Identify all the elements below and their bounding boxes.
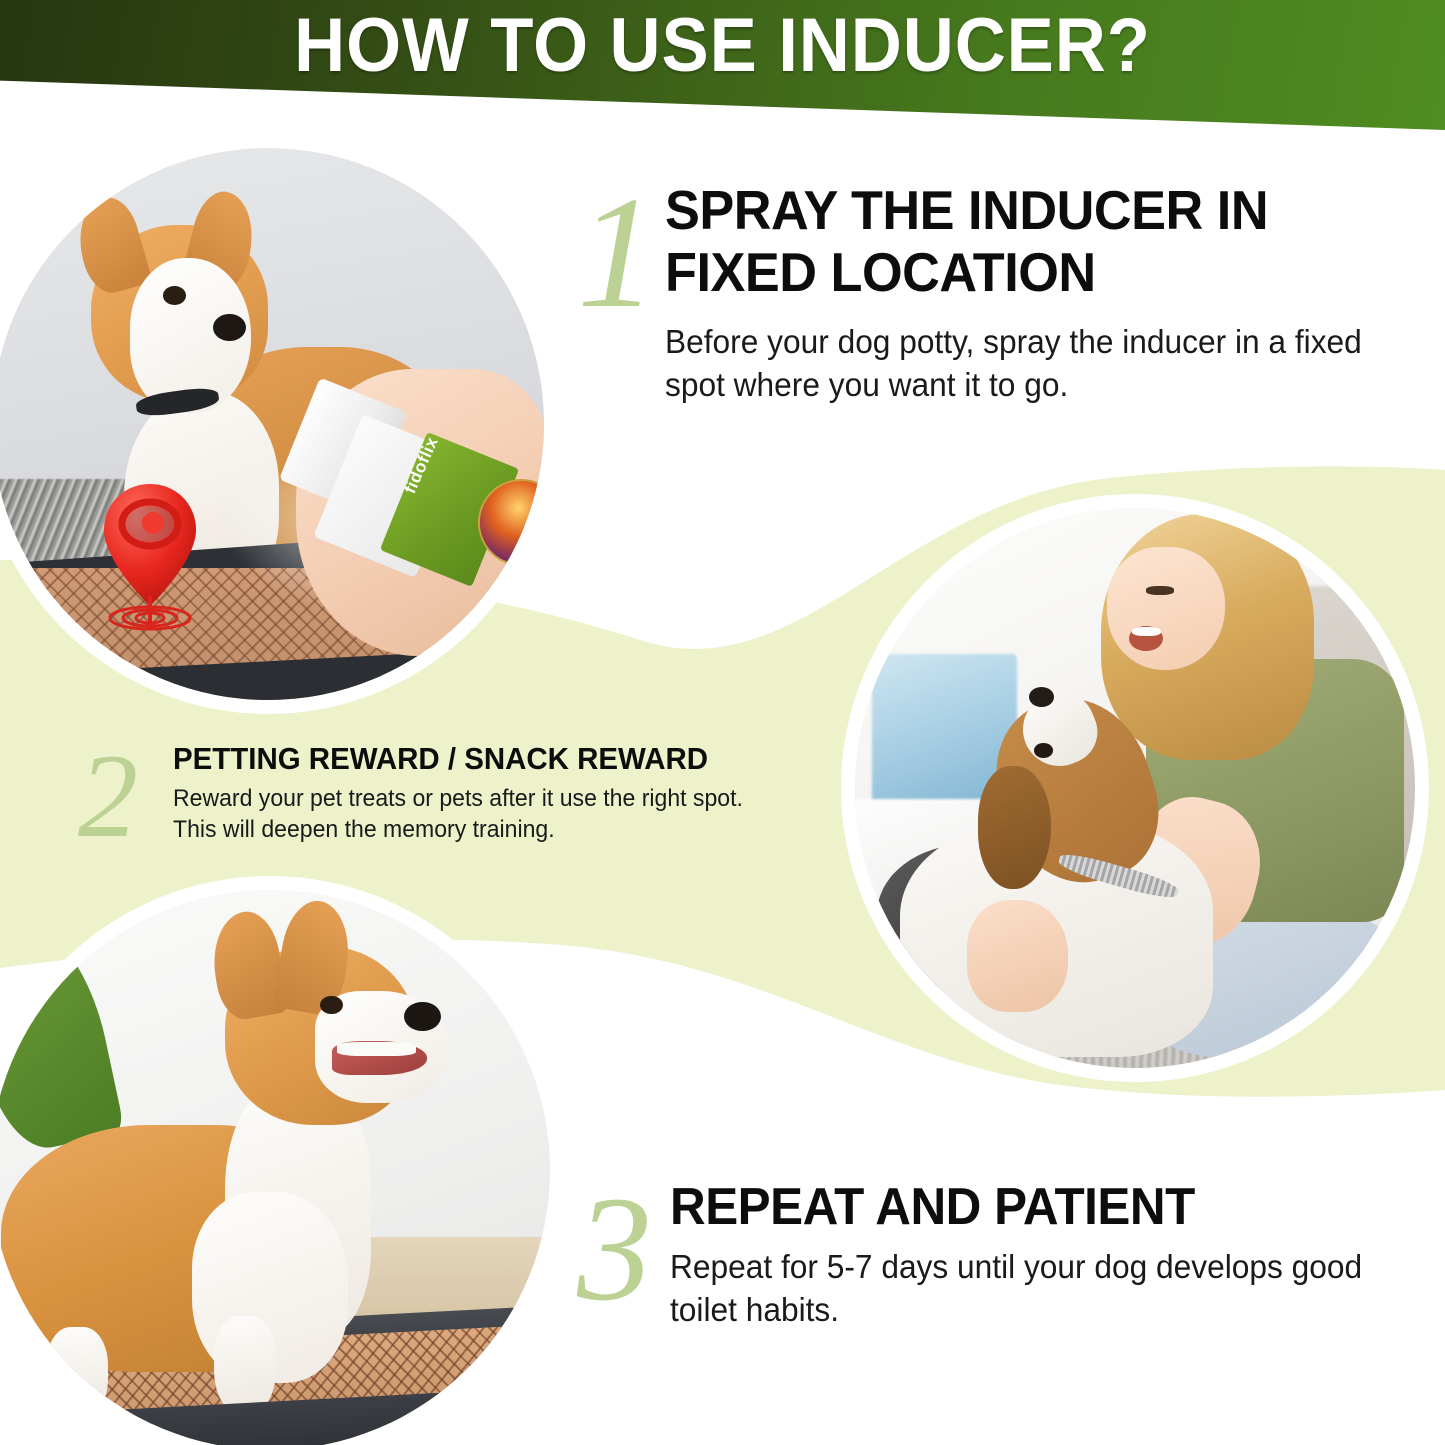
step-1-body: Before your dog potty, spray the inducer…: [665, 321, 1375, 407]
woman-petting-hand: [967, 900, 1068, 1012]
step-3-number: 3: [577, 1174, 652, 1324]
photo-reward-scene: [855, 508, 1415, 1068]
corgi-eye: [163, 286, 186, 305]
step-1-number: 1: [577, 172, 657, 332]
woman-eye: [1146, 586, 1174, 594]
corgi-nose: [404, 1002, 440, 1031]
photo-spray-scene: fidoflix: [0, 148, 544, 700]
step-1-title: SPRAY THE INDUCER IN FIXED LOCATION: [665, 180, 1368, 303]
corgi-teeth: [337, 1042, 415, 1055]
photo-corgi-on-tray: [0, 890, 550, 1445]
step-2-title: PETTING REWARD / SNACK REWARD: [173, 742, 767, 777]
beagle-eye: [1034, 743, 1053, 758]
step-2-number: 2: [78, 736, 138, 856]
step-3-block: 3 REPEAT AND PATIENT Repeat for 5-7 days…: [575, 1178, 1415, 1332]
step-2-block: 2 PETTING REWARD / SNACK REWARD Reward y…: [78, 742, 798, 845]
page-title: HOW TO USE INDUCER?: [51, 8, 1395, 84]
step-1-block: 1 SPRAY THE INDUCER IN FIXED LOCATION Be…: [575, 180, 1405, 407]
step-2-body: Reward your pet treats or pets after it …: [173, 783, 773, 845]
beagle-nose: [1029, 687, 1054, 707]
corgi-rear-leg: [46, 1327, 108, 1422]
woman-teeth: [1132, 627, 1161, 636]
photo-spray-inducer: fidoflix: [0, 148, 544, 700]
step-3-body: Repeat for 5-7 days until your dog devel…: [670, 1246, 1385, 1332]
map-pin-icon: [95, 478, 205, 638]
woman-face: [1107, 547, 1225, 670]
photo-reward-beagle: [855, 508, 1415, 1068]
corgi-nose: [213, 314, 246, 342]
beagle-ear: [978, 766, 1051, 889]
photo-repeat-scene: [0, 890, 550, 1445]
step-3-title: REPEAT AND PATIENT: [670, 1178, 1378, 1236]
infographic-poster: HOW TO USE INDUCER? fidoflix: [0, 0, 1445, 1445]
